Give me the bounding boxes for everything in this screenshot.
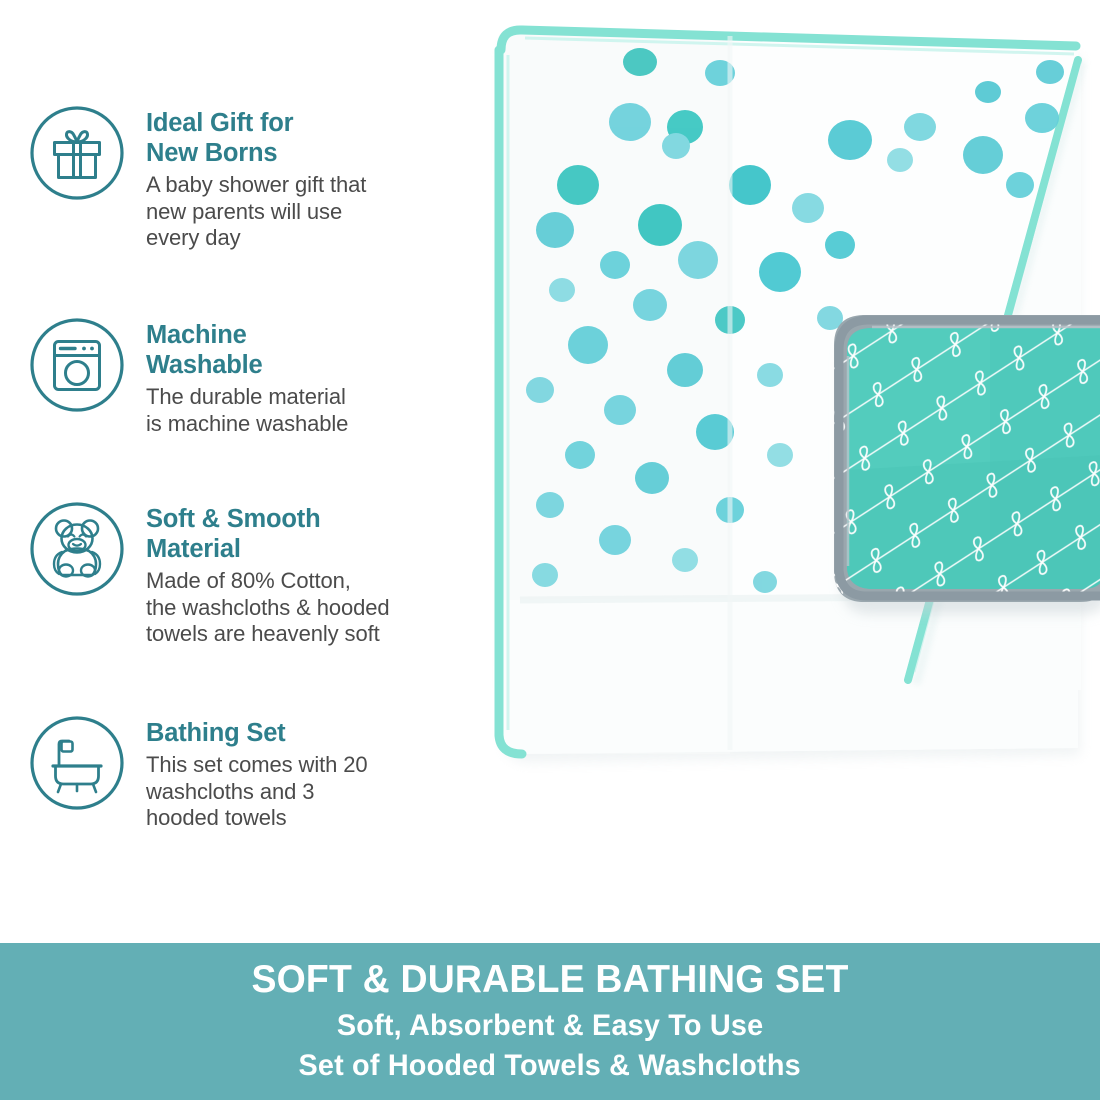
feature-item-soft-smooth[interactable]: Soft & Smooth Material Made of 80% Cotto…: [28, 500, 390, 648]
feature-item-machine-washable[interactable]: Machine Washable The durable material is…: [28, 316, 348, 437]
bottom-banner: SOFT & DURABLE BATHING SET Soft, Absorbe…: [0, 943, 1100, 1100]
feature-list: Ideal Gift for New Borns A baby shower g…: [0, 0, 460, 943]
leaf-sprig-pattern: [830, 310, 1100, 610]
banner-subtitle-2: Set of Hooded Towels & Washcloths: [299, 1046, 801, 1086]
feature-title: Ideal Gift for New Borns: [146, 108, 366, 168]
gift-icon: [28, 104, 126, 202]
product-photo: [430, 0, 1100, 943]
feature-description: This set comes with 20 washcloths and 3 …: [146, 752, 368, 832]
feature-text: Bathing Set This set comes with 20 washc…: [146, 714, 368, 832]
feature-item-ideal-gift[interactable]: Ideal Gift for New Borns A baby shower g…: [28, 104, 366, 252]
feature-description: The durable material is machine washable: [146, 384, 348, 437]
feature-text: Soft & Smooth Material Made of 80% Cotto…: [146, 500, 390, 648]
feature-text: Machine Washable The durable material is…: [146, 316, 348, 437]
washing-machine-icon: [28, 316, 126, 414]
feature-title: Soft & Smooth Material: [146, 504, 390, 564]
feature-description: Made of 80% Cotton, the washcloths & hoo…: [146, 568, 390, 648]
feature-title: Machine Washable: [146, 320, 348, 380]
feature-title: Bathing Set: [146, 718, 368, 748]
banner-subtitle-1: Soft, Absorbent & Easy To Use: [337, 1006, 763, 1046]
feature-text: Ideal Gift for New Borns A baby shower g…: [146, 104, 366, 252]
teddy-bear-icon: [28, 500, 126, 598]
feature-description: A baby shower gift that new parents will…: [146, 172, 366, 252]
teal-leaf-towel: [830, 310, 1100, 614]
banner-title: SOFT & DURABLE BATHING SET: [251, 957, 848, 1003]
infographic-page: Ideal Gift for New Borns A baby shower g…: [0, 0, 1100, 1100]
bathtub-icon: [28, 714, 126, 812]
feature-item-bathing-set[interactable]: Bathing Set This set comes with 20 washc…: [28, 714, 368, 832]
